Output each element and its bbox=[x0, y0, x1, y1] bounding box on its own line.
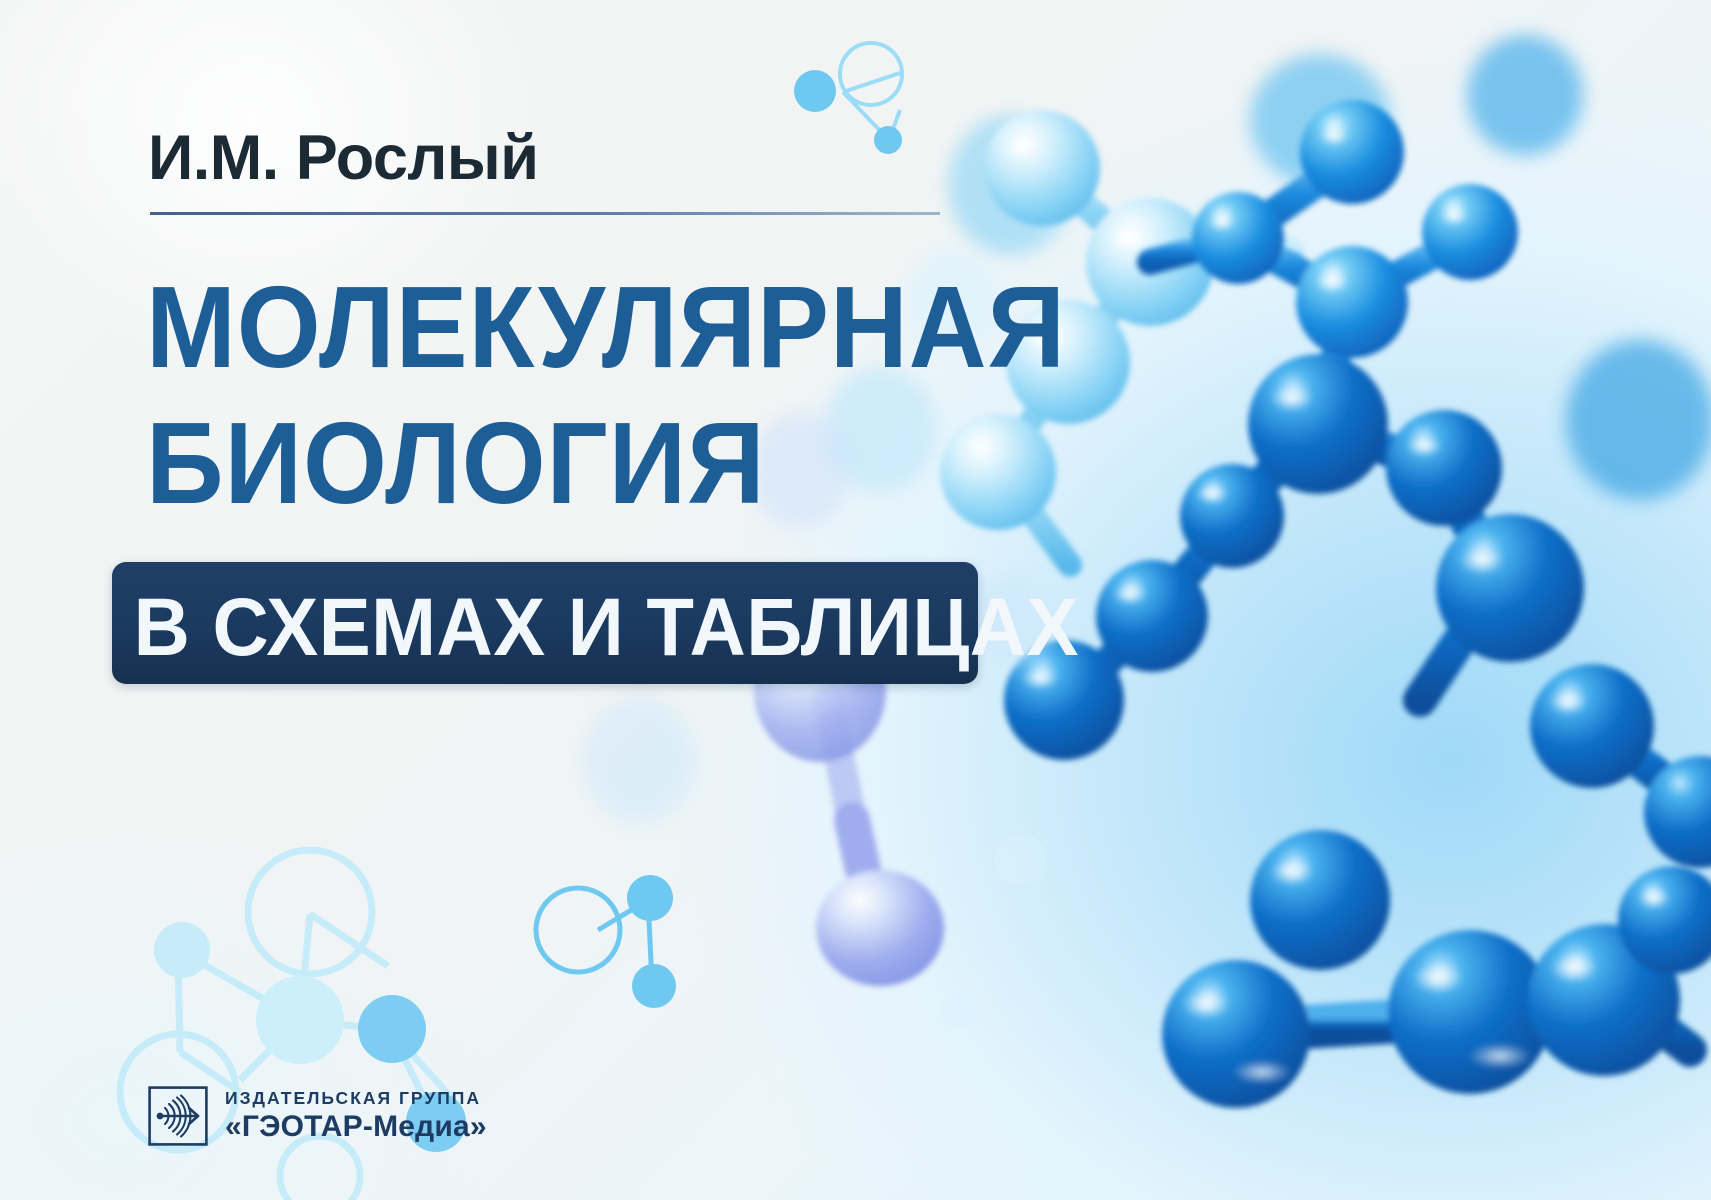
book-cover: И.М. Рослый МОЛЕКУЛЯРНАЯ БИОЛОГИЯ В СХЕМ… bbox=[0, 0, 1711, 1200]
publisher-group-label: ИЗДАТЕЛЬСКАЯ ГРУППА bbox=[225, 1090, 487, 1108]
geotar-media-logo-icon bbox=[148, 1086, 208, 1146]
subtitle-banner-text: В СХЕМАХ И ТАБЛИЦАХ bbox=[134, 581, 957, 675]
title-line-1: МОЛЕКУЛЯРНАЯ bbox=[146, 272, 1066, 383]
publisher-block: ИЗДАТЕЛЬСКАЯ ГРУППА «ГЭОТАР-Медиа» bbox=[148, 1086, 487, 1146]
subtitle-banner: В СХЕМАХ И ТАБЛИЦАХ bbox=[112, 562, 978, 684]
publisher-text: ИЗДАТЕЛЬСКАЯ ГРУППА «ГЭОТАР-Медиа» bbox=[225, 1090, 487, 1142]
cover-text-layer: И.М. Рослый МОЛЕКУЛЯРНАЯ БИОЛОГИЯ В СХЕМ… bbox=[0, 0, 1711, 1200]
author-divider-rule bbox=[150, 212, 940, 215]
publisher-name: «ГЭОТАР-Медиа» bbox=[225, 1112, 487, 1142]
title-line-2: БИОЛОГИЯ bbox=[146, 408, 766, 519]
author-name: И.М. Рослый bbox=[148, 122, 538, 194]
